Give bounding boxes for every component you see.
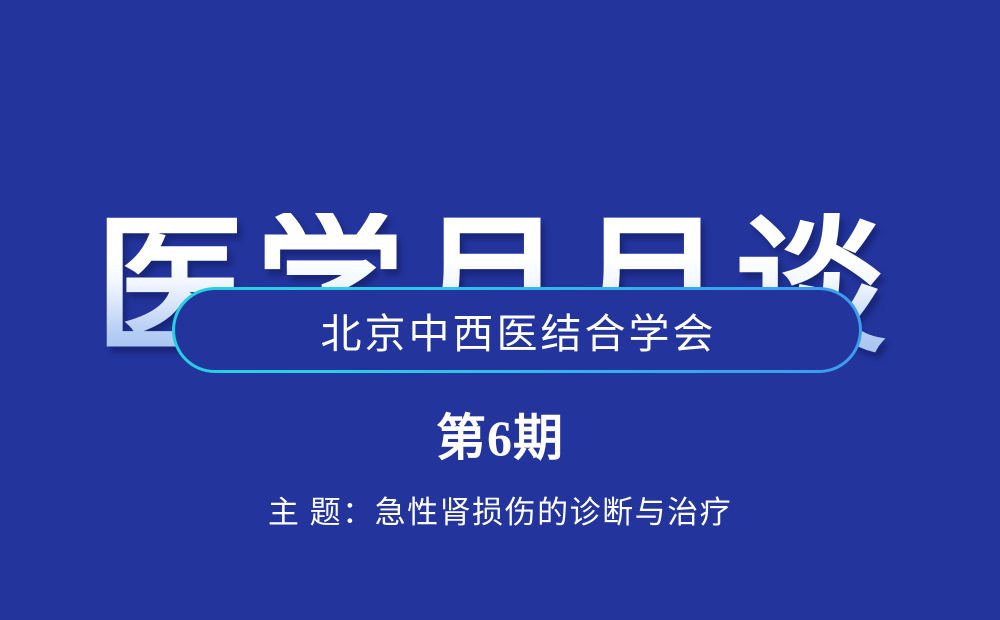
- topic-line: 主 题：急性肾损伤的诊断与治疗: [0, 494, 1000, 531]
- poster-canvas: 医学月月谈 北京中西医结合学会 第6期 主 题：急性肾损伤的诊断与治疗: [0, 0, 1000, 620]
- organization-name: 北京中西医结合学会: [318, 300, 717, 360]
- organization-badge-inner: 北京中西医结合学会: [175, 290, 859, 370]
- organization-badge: 北京中西医结合学会: [172, 287, 862, 373]
- issue-number: 第6期: [0, 411, 1000, 466]
